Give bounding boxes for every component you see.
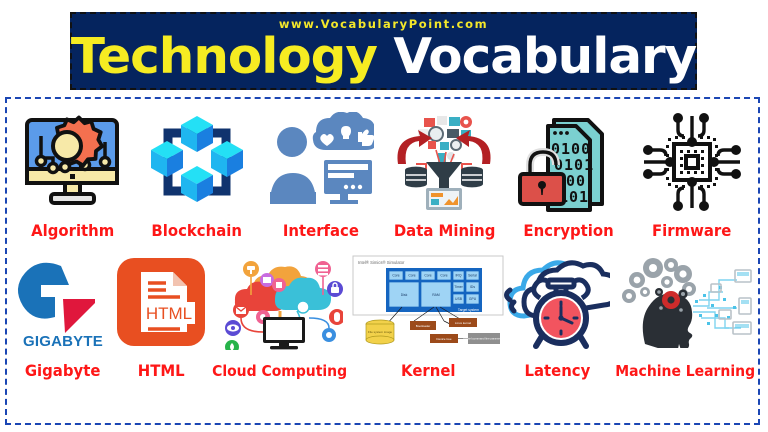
- kernel-core-2: Core: [409, 273, 416, 277]
- term-label: Gigabyte: [25, 363, 101, 379]
- microchip-circuit-icon: [630, 103, 754, 220]
- kernel-window-title: Intel® Simics® Simulator: [358, 260, 405, 265]
- kernel-artifact-linux-kernel: Linux kernel: [455, 320, 472, 324]
- term-label: Blockchain: [151, 223, 242, 239]
- kernel-block-irq: IRQ: [456, 273, 462, 277]
- padlock-binary-document-icon: 0100 0101 100 101: [506, 103, 630, 220]
- header-banner: www.VocabularyPoint.com Technology Vocab…: [70, 12, 697, 90]
- term-item-html[interactable]: HTML HTML: [115, 243, 207, 383]
- term-label: Firmware: [652, 223, 731, 239]
- kernel-block-usb: USB: [455, 297, 463, 301]
- term-item-latency[interactable]: Latency: [504, 243, 610, 383]
- page-title: Technology Vocabulary: [71, 32, 696, 81]
- term-item-cloud-computing[interactable]: Cloud Computing: [207, 243, 352, 383]
- kernel-diagram-icon: Intel® Simics® Simulator Core Core Core: [352, 243, 504, 360]
- term-row: Algorithm: [11, 103, 754, 243]
- term-item-blockchain[interactable]: Blockchain: [135, 103, 259, 243]
- kernel-core-4: Core: [441, 273, 448, 277]
- kernel-block-gpu: GPU: [469, 297, 477, 301]
- kernel-block-ids: IDs: [470, 285, 475, 289]
- kernel-block-ram: RAM: [432, 293, 440, 297]
- person-cloud-monitor-icon: [259, 103, 383, 220]
- blockchain-cubes-icon: [135, 103, 259, 220]
- vocabulary-grid: Algorithm: [5, 97, 760, 425]
- term-item-kernel[interactable]: Intel® Simics® Simulator Core Core Core: [352, 243, 504, 383]
- html-file-label: HTML: [146, 304, 192, 323]
- term-label: Latency: [524, 363, 590, 379]
- head-gears-network-icon: [610, 243, 760, 361]
- term-item-algorithm[interactable]: Algorithm: [11, 103, 135, 243]
- term-label: Algorithm: [31, 223, 114, 239]
- page-title-primary: Technology: [71, 28, 377, 85]
- term-label: Kernel: [401, 363, 455, 379]
- term-row: GIGABYTE Gigabyte HTML: [11, 243, 754, 383]
- term-item-encryption[interactable]: 0100 0101 100 101 Encryption: [506, 103, 630, 243]
- gigabyte-logo-icon: GIGABYTE: [11, 243, 115, 360]
- term-label: Data Mining: [394, 223, 496, 239]
- term-label: Cloud Computing: [212, 364, 347, 379]
- cloud-computing-icon: [207, 243, 352, 361]
- kernel-storage-label: File system image: [368, 330, 393, 334]
- funnel-database-icon: [382, 103, 506, 220]
- kernel-core-1: Core: [393, 273, 400, 277]
- page-title-secondary: Vocabulary: [393, 28, 696, 85]
- term-item-machine-learning[interactable]: Machine Learning: [610, 243, 760, 383]
- term-item-interface[interactable]: Interface: [259, 103, 383, 243]
- kernel-block-timer: Timer: [454, 285, 463, 289]
- html-file-icon: HTML: [115, 243, 207, 360]
- term-label: HTML: [138, 363, 185, 379]
- kernel-params-label: Kernel command line parameters: [464, 336, 505, 340]
- kernel-artifact-bootloader: Bootloader: [416, 323, 431, 327]
- kernel-block-disk: Disk: [401, 293, 408, 297]
- term-item-data-mining[interactable]: Data Mining: [382, 103, 506, 243]
- gigabyte-wordmark: GIGABYTE: [23, 333, 103, 348]
- cloud-alarm-clock-icon: [504, 243, 610, 360]
- term-label: Machine Learning: [615, 364, 755, 379]
- term-label: Encryption: [523, 223, 613, 239]
- term-label: Interface: [283, 223, 359, 239]
- kernel-block-serial: Serial: [468, 273, 477, 277]
- term-item-gigabyte[interactable]: GIGABYTE Gigabyte: [11, 243, 115, 383]
- kernel-target-label: Target system: [458, 308, 479, 312]
- monitor-gear-icon: [11, 103, 135, 220]
- term-item-firmware[interactable]: Firmware: [630, 103, 754, 243]
- kernel-core-3: Core: [425, 273, 432, 277]
- kernel-artifact-device-tree: Device tree: [437, 336, 453, 340]
